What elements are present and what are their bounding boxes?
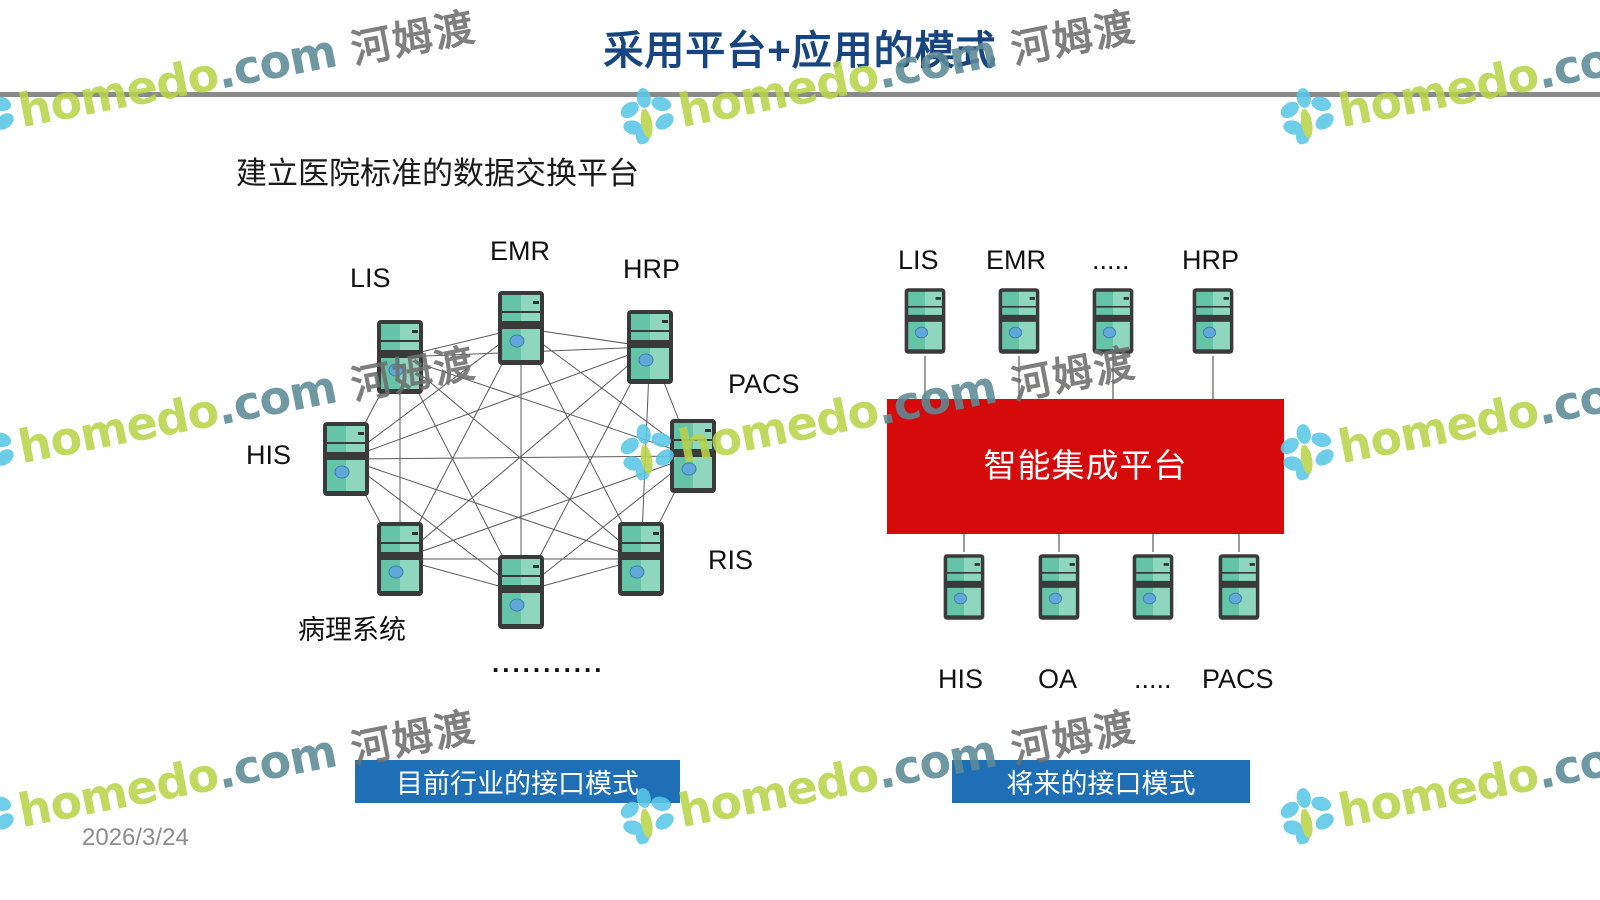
server-node-bottom-0[interactable] <box>941 552 987 622</box>
watermark-com: .com <box>1532 359 1600 435</box>
watermark: homedo.com河姆渡 <box>1274 693 1600 853</box>
homedo-flower-logo-icon <box>1274 418 1340 484</box>
server-node-left-emr[interactable] <box>495 289 547 367</box>
right-top-label-2: ..... <box>1092 245 1130 276</box>
left-node-label-3: PACS <box>728 369 800 400</box>
homedo-flower-logo-icon <box>1274 418 1341 489</box>
right-bottom-label-1: OA <box>1038 664 1077 695</box>
title-divider <box>0 92 1600 97</box>
left-node-label-2: HRP <box>623 254 680 285</box>
right-top-label-1: EMR <box>986 245 1046 276</box>
left-caption-label: 目前行业的接口模式 <box>396 762 639 801</box>
homedo-flower-logo-icon <box>1274 782 1340 848</box>
right-bottom-label-0: HIS <box>938 664 983 695</box>
right-diagram-caption[interactable]: 将来的接口模式 <box>952 760 1250 803</box>
server-node-top-2[interactable] <box>1090 286 1136 356</box>
mesh-connection-lines <box>0 0 1600 900</box>
server-node-left-lis[interactable] <box>374 318 426 396</box>
homedo-flower-logo-icon <box>0 782 20 848</box>
right-bottom-label-2: ..... <box>1134 664 1172 695</box>
homedo-flower-logo-icon <box>0 418 20 484</box>
homedo-flower-logo-icon <box>0 418 21 489</box>
watermark-homedo: homedo <box>1334 382 1543 474</box>
integration-platform-box[interactable]: 智能集成平台 <box>887 399 1284 534</box>
server-node-top-0[interactable] <box>902 286 948 356</box>
right-top-label-3: HRP <box>1182 245 1239 276</box>
slide-canvas: 采用平台+应用的模式 建立医院标准的数据交换平台 <box>0 0 1600 900</box>
server-node-bottom-3[interactable] <box>1216 552 1262 622</box>
watermark-homedo: homedo <box>14 382 223 474</box>
server-node-bottom-2[interactable] <box>1130 552 1176 622</box>
watermark: homedo.com河姆渡 <box>1274 329 1600 489</box>
left-diagram-ellipsis: ........... <box>492 648 604 679</box>
right-bottom-label-3: PACS <box>1202 664 1274 695</box>
server-node-left-病理系统[interactable] <box>374 520 426 598</box>
left-node-label-4: RIS <box>708 545 753 576</box>
watermark-com: .com <box>1532 723 1600 799</box>
subtitle-text: 建立医院标准的数据交换平台 <box>236 148 639 193</box>
right-top-label-0: LIS <box>898 245 939 276</box>
watermark-homedo: homedo <box>1334 746 1543 838</box>
server-node-left-pacs[interactable] <box>667 417 719 495</box>
homedo-flower-logo-icon <box>0 782 21 853</box>
server-node-top-1[interactable] <box>996 286 1042 356</box>
watermark-layer: homedo.com河姆渡 homedo.com河姆渡 homedo.com河姆… <box>0 0 1600 900</box>
server-node-left-unlabeled-5[interactable] <box>495 553 547 631</box>
left-node-label-7: HIS <box>246 440 291 471</box>
left-node-label-6: 病理系统 <box>298 608 406 647</box>
server-node-left-hrp[interactable] <box>624 308 676 386</box>
page-title: 采用平台+应用的模式 <box>0 18 1600 76</box>
server-node-bottom-1[interactable] <box>1036 552 1082 622</box>
slide-date: 2026/3/24 <box>82 824 189 852</box>
left-diagram-caption[interactable]: 目前行业的接口模式 <box>355 760 680 803</box>
server-node-left-ris[interactable] <box>615 520 667 598</box>
homedo-flower-logo-icon <box>1274 782 1341 853</box>
right-caption-label: 将来的接口模式 <box>1007 762 1196 801</box>
integration-platform-label: 智能集成平台 <box>984 439 1188 487</box>
server-node-top-3[interactable] <box>1190 286 1236 356</box>
left-node-label-0: LIS <box>350 263 391 294</box>
server-node-left-his[interactable] <box>320 420 372 498</box>
watermark-homedo: homedo <box>674 746 883 838</box>
watermark-com: .com <box>212 723 340 799</box>
left-node-label-1: EMR <box>490 236 550 267</box>
